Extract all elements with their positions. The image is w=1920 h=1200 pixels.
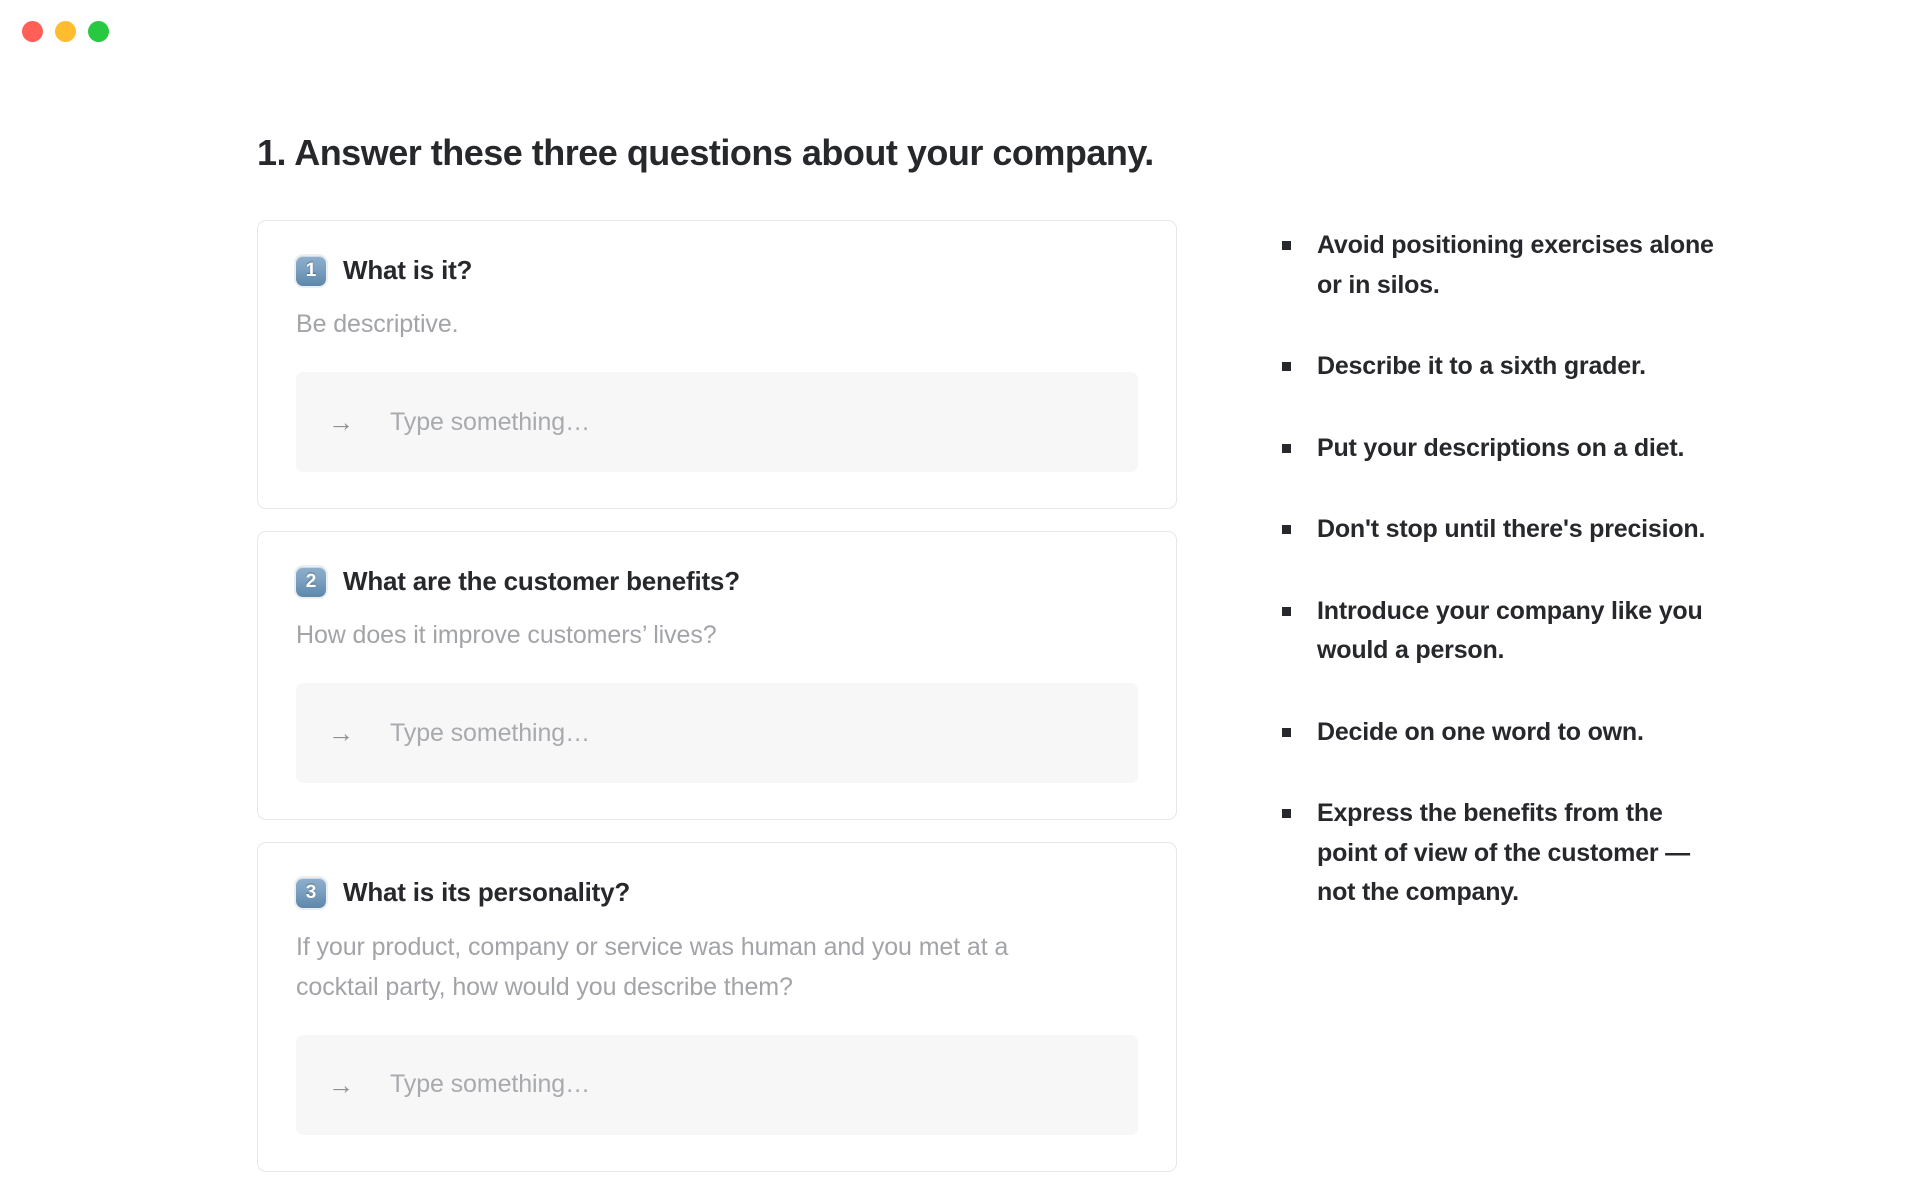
- tip-text: Decide on one word to own.: [1317, 713, 1644, 753]
- tips-list: Avoid positioning exercises alone or in …: [1282, 226, 1722, 913]
- window-titlebar: [0, 0, 1920, 62]
- square-bullet-icon: [1282, 444, 1291, 453]
- list-item: Describe it to a sixth grader.: [1282, 347, 1722, 387]
- square-bullet-icon: [1282, 241, 1291, 250]
- close-window-button[interactable]: [22, 21, 43, 42]
- traffic-light-group: [22, 21, 109, 42]
- question-header: 3 What is its personality?: [296, 877, 1138, 908]
- two-column-layout: 1 What is it? Be descriptive. → Type som…: [257, 220, 1907, 1194]
- question-card[interactable]: 3 What is its personality? If your produ…: [257, 842, 1177, 1171]
- arrow-right-icon: →: [328, 720, 354, 746]
- answer-input-placeholder: Type something…: [390, 719, 590, 748]
- worksheet-content: 1. Answer these three questions about yo…: [257, 130, 1907, 1194]
- list-item: Express the benefits from the point of v…: [1282, 794, 1722, 913]
- tips-column: Avoid positioning exercises alone or in …: [1282, 220, 1722, 955]
- arrow-right-icon: →: [328, 409, 354, 435]
- question-header: 2 What are the customer benefits?: [296, 566, 1138, 597]
- keycap-number: 1: [296, 256, 326, 286]
- tip-text: Put your descriptions on a diet.: [1317, 429, 1684, 469]
- tip-text: Introduce your company like you would a …: [1317, 592, 1722, 671]
- question-header: 1 What is it?: [296, 255, 1138, 286]
- minimize-window-button[interactable]: [55, 21, 76, 42]
- keycap-2-icon: 2: [296, 567, 326, 597]
- question-title: What is it?: [343, 255, 472, 286]
- question-hint: Be descriptive.: [296, 304, 1096, 344]
- tip-text: Express the benefits from the point of v…: [1317, 794, 1722, 913]
- keycap-3-icon: 3: [296, 878, 326, 908]
- list-item: Avoid positioning exercises alone or in …: [1282, 226, 1722, 305]
- answer-input-2[interactable]: → Type something…: [296, 683, 1138, 783]
- question-hint: How does it improve customers’ lives?: [296, 615, 1096, 655]
- square-bullet-icon: [1282, 728, 1291, 737]
- square-bullet-icon: [1282, 607, 1291, 616]
- question-title: What are the customer benefits?: [343, 566, 740, 597]
- square-bullet-icon: [1282, 525, 1291, 534]
- list-item: Put your descriptions on a diet.: [1282, 429, 1722, 469]
- page-body: 1. Answer these three questions about yo…: [0, 62, 1920, 1200]
- question-title: What is its personality?: [343, 877, 630, 908]
- tip-text: Avoid positioning exercises alone or in …: [1317, 226, 1722, 305]
- page-title: 1. Answer these three questions about yo…: [257, 130, 1907, 175]
- answer-input-3[interactable]: → Type something…: [296, 1035, 1138, 1135]
- list-item: Decide on one word to own.: [1282, 713, 1722, 753]
- question-card[interactable]: 2 What are the customer benefits? How do…: [257, 531, 1177, 820]
- keycap-number: 2: [296, 567, 326, 597]
- keycap-number: 3: [296, 878, 326, 908]
- questions-column: 1 What is it? Be descriptive. → Type som…: [257, 220, 1177, 1194]
- answer-input-1[interactable]: → Type something…: [296, 372, 1138, 472]
- tip-text: Don't stop until there's precision.: [1317, 510, 1705, 550]
- list-item: Don't stop until there's precision.: [1282, 510, 1722, 550]
- maximize-window-button[interactable]: [88, 21, 109, 42]
- keycap-1-icon: 1: [296, 256, 326, 286]
- question-card[interactable]: 1 What is it? Be descriptive. → Type som…: [257, 220, 1177, 509]
- tip-text: Describe it to a sixth grader.: [1317, 347, 1646, 387]
- arrow-right-icon: →: [328, 1072, 354, 1098]
- list-item: Introduce your company like you would a …: [1282, 592, 1722, 671]
- square-bullet-icon: [1282, 809, 1291, 818]
- question-hint: If your product, company or service was …: [296, 927, 1096, 1007]
- answer-input-placeholder: Type something…: [390, 1070, 590, 1099]
- square-bullet-icon: [1282, 362, 1291, 371]
- answer-input-placeholder: Type something…: [390, 408, 590, 437]
